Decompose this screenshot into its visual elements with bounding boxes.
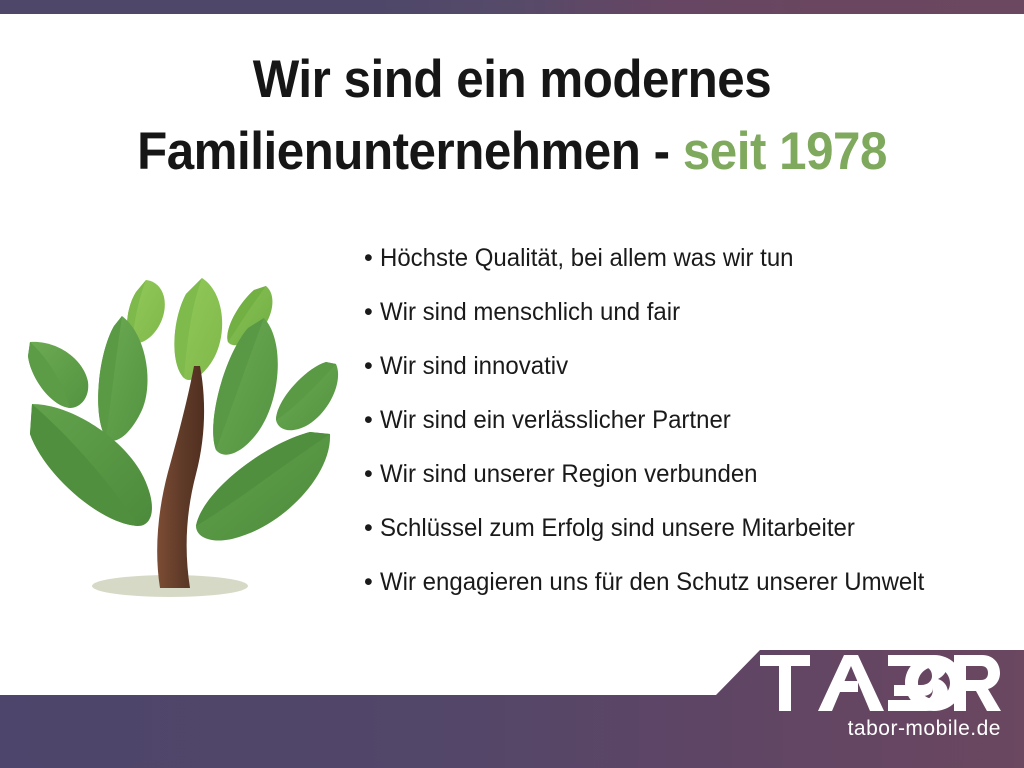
logo-wordmark-tabor [760,655,1005,711]
list-item-label: Wir engagieren uns für den Schutz unsere… [380,567,924,597]
bullet-marker-icon: • [364,243,380,273]
tree-illustration [18,258,358,608]
bullet-marker-icon: • [364,513,380,543]
leaf-top-center [174,278,222,380]
list-item: • Wir sind menschlich und fair [364,297,1014,351]
logo-letter-r [954,655,1001,711]
list-item-label: Wir sind innovativ [380,351,568,381]
list-item: • Wir sind ein verlässlicher Partner [364,405,1014,459]
leaf-right-small [276,362,338,430]
list-item: • Höchste Qualität, bei allem was wir tu… [364,243,1014,297]
list-item-label: Wir sind menschlich und fair [380,297,680,327]
slide-canvas: Wir sind ein modernes Familienunternehme… [0,0,1024,768]
logo-website-url[interactable]: tabor-mobile.de [760,717,1005,741]
brand-logo[interactable]: tabor-mobile.de [760,655,1015,755]
heading-line-2: Familienunternehmen - seit 1978 [36,116,988,188]
heading-accent-year: seit 1978 [683,122,887,181]
list-item: • Wir sind innovativ [364,351,1014,405]
list-item-label: Höchste Qualität, bei allem was wir tun [380,243,794,273]
heading-block: Wir sind ein modernes Familienunternehme… [0,44,1024,188]
list-item-label: Schlüssel zum Erfolg sind unsere Mitarbe… [380,513,855,543]
heading-line-2-main: Familienunternehmen - [137,122,683,181]
bullet-marker-icon: • [364,567,380,597]
bullet-marker-icon: • [364,351,380,381]
top-gradient-bar [0,0,1024,14]
list-item-label: Wir sind ein verlässlicher Partner [380,405,731,435]
bullet-marker-icon: • [364,405,380,435]
tree-illustration-svg [18,258,358,608]
logo-letter-a [818,655,884,711]
value-bullet-list: • Höchste Qualität, bei allem was wir tu… [364,243,1014,621]
list-item: • Wir sind unserer Region verbunden [364,459,1014,513]
bullet-marker-icon: • [364,459,380,489]
bullet-marker-icon: • [364,297,380,327]
heading-line-1: Wir sind ein modernes [36,44,988,116]
list-item-label: Wir sind unserer Region verbunden [380,459,758,489]
list-item: • Wir engagieren uns für den Schutz unse… [364,567,1014,621]
tree-trunk [157,366,204,588]
list-item: • Schlüssel zum Erfolg sind unsere Mitar… [364,513,1014,567]
leaf-upper-right [213,318,278,455]
logo-letter-t [760,655,810,711]
leaf-left-small [28,342,88,408]
